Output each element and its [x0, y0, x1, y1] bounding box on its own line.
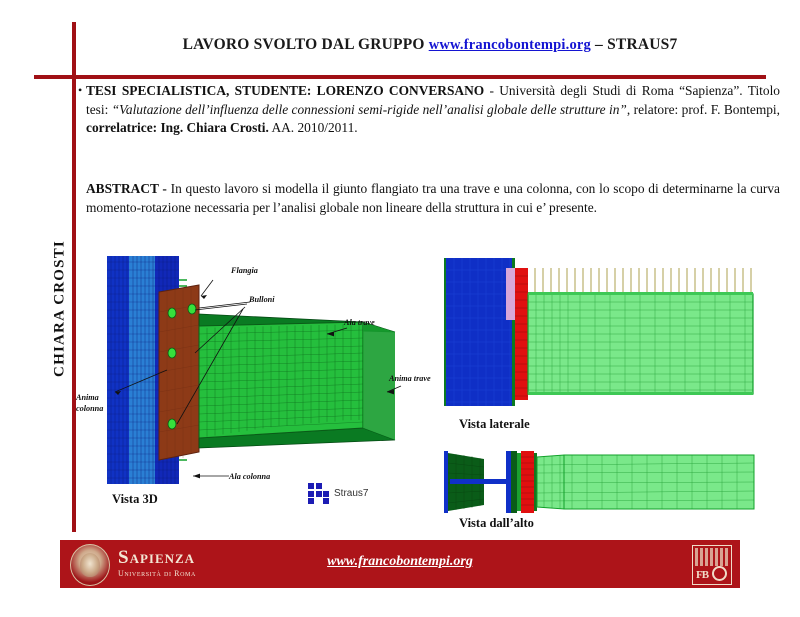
thesis-co-advisor: correlatrice: Ing. Chiara Crosti. [86, 120, 269, 135]
top-column-web [450, 479, 508, 484]
fbo-logo-text: FB [696, 569, 708, 581]
annotation-bulloni: Bulloni [249, 295, 275, 304]
end-plate-flange [159, 285, 199, 460]
thesis-advisor: , relatore: prof. F. Bontempi, [627, 102, 780, 117]
header-link[interactable]: www.francobontempi.org [429, 37, 591, 53]
figure-top-view [432, 443, 788, 523]
fbo-logo-icon: FB [692, 545, 732, 585]
slide-canvas: LAVORO SVOLTO DAL GRUPPO www.francobonte… [0, 0, 800, 617]
horizontal-red-rule [34, 75, 766, 79]
abstract-text: In questo lavoro si modella il giunto fl… [86, 181, 780, 215]
caption-vista-dall-alto: Vista dall’alto [459, 516, 534, 531]
lateral-column [444, 258, 515, 406]
lateral-top-stubs [535, 268, 751, 294]
top-column-right-flange [506, 451, 521, 513]
page-title-suffix: – STRAUS7 [591, 36, 677, 53]
beam-web-mesh [199, 322, 363, 438]
annotation-anima-colonna-line2: colonna [76, 404, 103, 413]
caption-vista-3d: Vista 3D [112, 492, 158, 507]
footer-url[interactable]: www.francobontempi.org [60, 554, 740, 570]
top-end-plate [521, 451, 537, 513]
annotation-anima-trave: Anima trave [389, 374, 431, 383]
thesis-student-label: TESI SPECIALISTICA, STUDENTE: LORENZO CO… [86, 83, 484, 98]
thesis-academic-year: AA. 2010/2011. [269, 120, 358, 135]
abstract-paragraph: ABSTRACT - In questo lavoro si modella i… [86, 180, 780, 217]
figure-lateral-view [440, 258, 790, 413]
caption-vista-laterale: Vista laterale [459, 417, 530, 432]
vertical-red-rule [72, 22, 76, 532]
sapienza-subtitle: Università di Roma [118, 569, 196, 578]
annotation-ala-colonna: Ala colonna [229, 472, 270, 481]
fbo-logo-pattern [695, 548, 729, 566]
lateral-beam-mesh [528, 292, 753, 395]
abstract-label: ABSTRACT - [86, 181, 171, 196]
page-title-prefix: LAVORO SVOLTO DAL GRUPPO [183, 36, 429, 53]
thesis-paragraph: • TESI SPECIALISTICA, STUDENTE: LORENZO … [80, 82, 780, 138]
straus7-label: Straus7 [334, 488, 368, 499]
footer-bar: Sapienza Università di Roma www.francobo… [60, 540, 740, 588]
annotation-anima-colonna-line1: Anima [76, 393, 99, 402]
top-beam-mesh [537, 455, 754, 509]
straus7-logo-icon [308, 483, 329, 504]
thesis-title: “Valutazione dell’influenza delle connes… [112, 102, 627, 117]
page-title: LAVORO SVOLTO DAL GRUPPO www.francobonte… [100, 36, 760, 54]
straus7-badge: Straus7 [308, 483, 368, 504]
annotation-flangia: Flangia [231, 266, 258, 275]
fbo-logo-ring [712, 566, 727, 581]
annotation-ala-trave: Ala trave [344, 318, 375, 327]
author-side-label: CHIARA CROSTI [52, 224, 69, 394]
figure-3d-view [95, 252, 415, 502]
bullet-marker: • [78, 82, 82, 99]
